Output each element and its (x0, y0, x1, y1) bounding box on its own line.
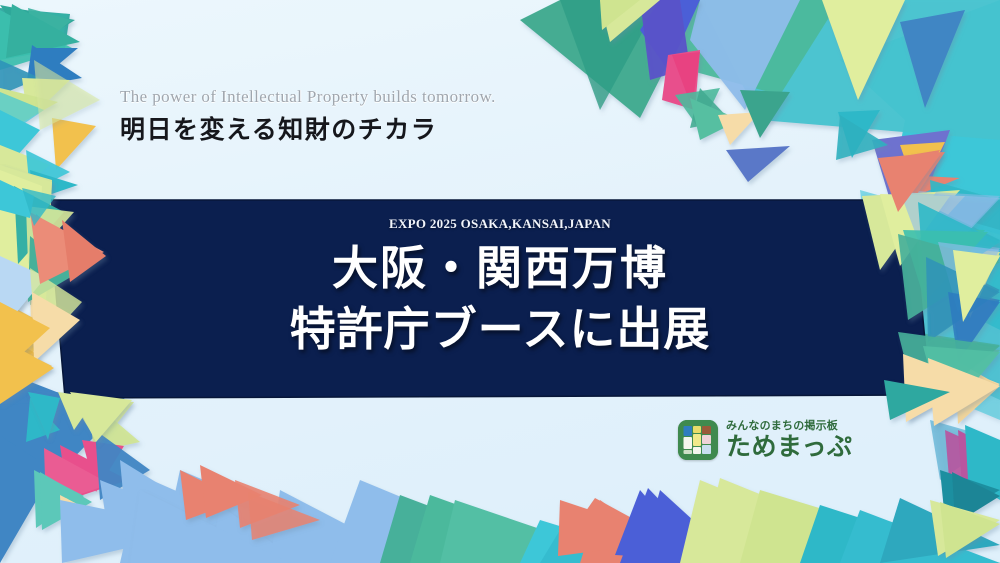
tagline-english: The power of Intellectual Property build… (120, 88, 680, 107)
logo-name: ためまっぷ (726, 434, 853, 460)
banner-headline: 大阪・関西万博 特許庁ブースに出展 (0, 238, 1000, 359)
tagline-block: The power of Intellectual Property build… (120, 88, 680, 145)
navy-banner: EXPO 2025 OSAKA,KANSAI,JAPAN 大阪・関西万博 特許庁… (0, 196, 1000, 401)
headline-line-2: 特許庁ブースに出展 (0, 299, 1000, 360)
tagline-japanese: 明日を変える知財のチカラ (120, 115, 680, 145)
headline-line-1: 大阪・関西万博 (0, 238, 1000, 299)
logo-subtitle: みんなのまちの掲示板 (726, 420, 853, 431)
poster-canvas: The power of Intellectual Property build… (0, 0, 1000, 563)
tamemap-logo: みんなのまちの掲示板 ためまっぷ (678, 420, 853, 460)
banner-content: EXPO 2025 OSAKA,KANSAI,JAPAN 大阪・関西万博 特許庁… (0, 196, 1000, 359)
logo-text-block: みんなのまちの掲示板 ためまっぷ (726, 420, 853, 460)
tamemap-bulletin-board-icon (678, 420, 718, 460)
expo-eyebrow-text: EXPO 2025 OSAKA,KANSAI,JAPAN (0, 216, 1000, 232)
